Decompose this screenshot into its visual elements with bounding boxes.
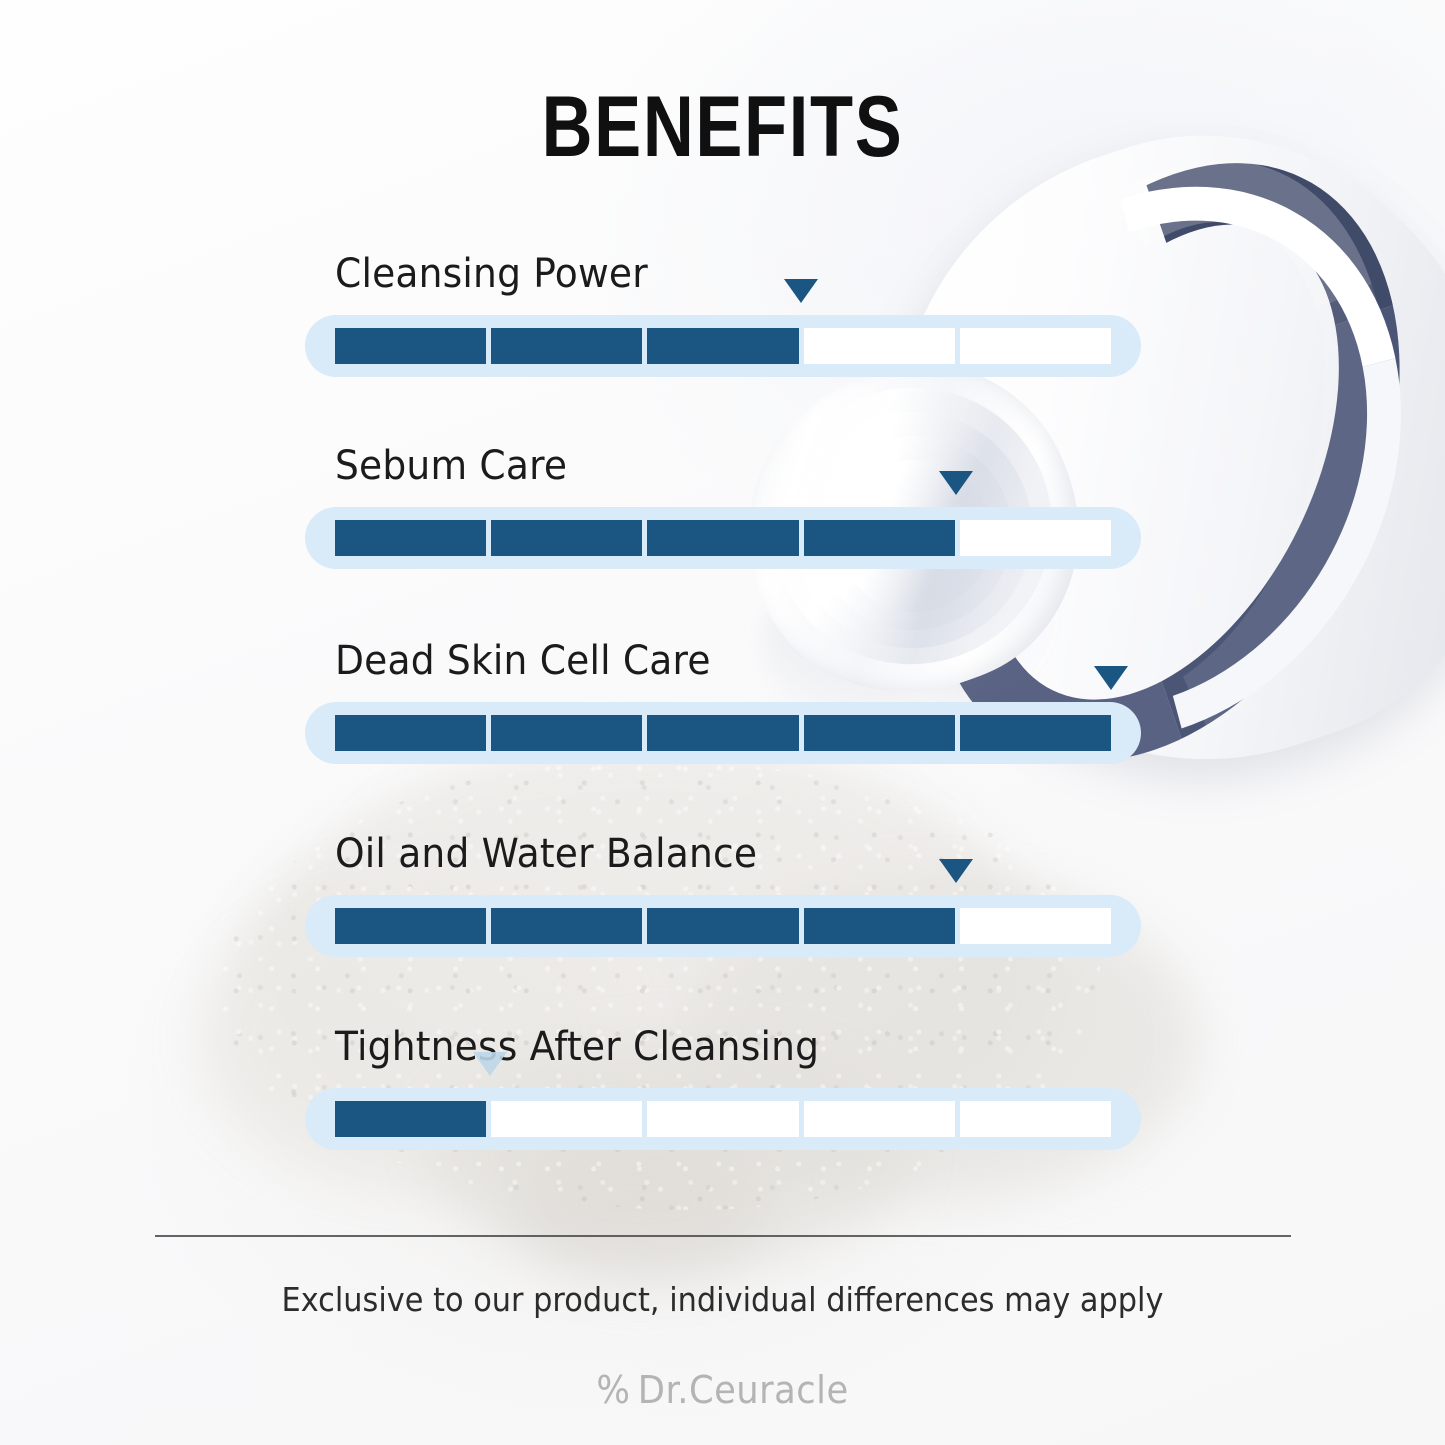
benefit-segment — [960, 908, 1111, 944]
brand-logo: %Dr.Ceuracle — [51, 1368, 1395, 1412]
benefit-row-dead-skin-cell-care: Dead Skin Cell Care — [305, 702, 1141, 764]
benefit-segment — [335, 715, 486, 751]
benefit-segment — [647, 908, 798, 944]
benefit-row-sebum-care: Sebum Care — [305, 507, 1141, 569]
benefit-row-oil-and-water-balance: Oil and Water Balance — [305, 895, 1141, 957]
benefit-marker-triangle-icon — [939, 471, 973, 495]
benefit-marker-triangle-icon — [1094, 666, 1128, 690]
footnote-text: Exclusive to our product, individual dif… — [58, 1280, 1387, 1319]
benefit-segment — [804, 1101, 955, 1137]
footer-divider — [155, 1235, 1291, 1237]
benefit-marker-triangle-icon — [473, 1052, 507, 1076]
benefit-segment — [335, 520, 486, 556]
benefit-marker-triangle-icon — [939, 859, 973, 883]
benefit-track — [305, 895, 1141, 957]
benefit-segment — [647, 520, 798, 556]
benefit-segment — [491, 715, 642, 751]
benefit-segment — [960, 520, 1111, 556]
benefit-label: Sebum Care — [335, 443, 567, 489]
benefit-marker-triangle-icon — [784, 279, 818, 303]
brand-name: Dr.Ceuracle — [638, 1368, 849, 1412]
benefit-segment — [491, 520, 642, 556]
benefit-track — [305, 507, 1141, 569]
benefit-segment — [804, 520, 955, 556]
benefit-segment — [804, 328, 955, 364]
benefit-segment — [960, 328, 1111, 364]
benefit-segment — [647, 328, 798, 364]
benefit-segment — [647, 715, 798, 751]
benefit-segment — [804, 908, 955, 944]
benefit-row-cleansing-power: Cleansing Power — [305, 315, 1141, 377]
benefit-track — [305, 702, 1141, 764]
benefit-segment — [960, 1101, 1111, 1137]
benefit-segment — [804, 715, 955, 751]
benefit-label: Tightness After Cleansing — [335, 1024, 819, 1070]
droplet-percent-icon: % — [596, 1368, 630, 1412]
benefit-segment — [335, 1101, 486, 1137]
benefit-label: Oil and Water Balance — [335, 831, 757, 877]
benefit-segment — [491, 328, 642, 364]
benefit-label: Dead Skin Cell Care — [335, 638, 711, 684]
benefit-track — [305, 315, 1141, 377]
benefit-row-tightness-after-cleansing: Tightness After Cleansing — [305, 1088, 1141, 1150]
benefit-segment — [491, 908, 642, 944]
benefit-label: Cleansing Power — [335, 251, 648, 297]
benefits-infographic: BENEFITS Cleansing Power Sebum Care — [0, 0, 1445, 1445]
benefit-segment — [335, 908, 486, 944]
benefit-track — [305, 1088, 1141, 1150]
benefit-segment — [335, 328, 486, 364]
benefit-segment — [960, 715, 1111, 751]
benefit-segment — [491, 1101, 642, 1137]
benefit-segment — [647, 1101, 798, 1137]
benefit-rows: Cleansing Power Sebum Care Dead Sk — [0, 0, 1445, 1445]
